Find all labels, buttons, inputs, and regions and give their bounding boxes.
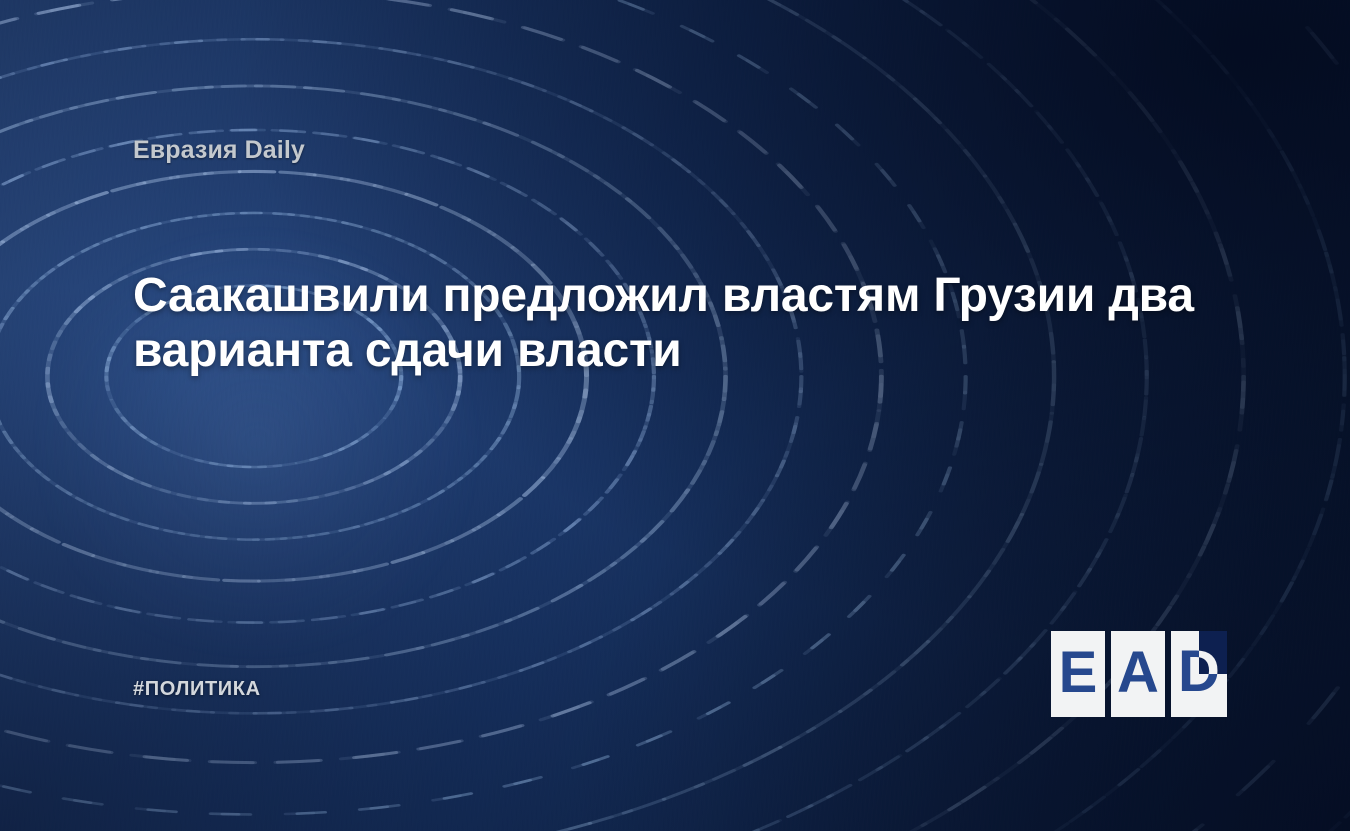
ead-logo-letter-d-tr: D (1199, 643, 1220, 674)
headline: Саакашвили предложил властям Грузии два … (133, 268, 1253, 378)
ead-logo: E A D D D D (1051, 631, 1229, 717)
ead-logo-tile-e: E (1051, 631, 1105, 717)
ead-logo-letter-d-bl: D (1178, 674, 1199, 701)
ead-logo-d-quadrant-bottom-right: D (1199, 674, 1227, 717)
ead-logo-d-quadrant-top-left: D (1171, 631, 1199, 674)
ead-logo-letter-a: A (1111, 631, 1165, 717)
ead-logo-letter-d-tl: D (1178, 643, 1199, 674)
ead-logo-tile-d: D D D D (1171, 631, 1227, 717)
ead-logo-letter-e: E (1051, 631, 1105, 717)
ead-logo-d-quadrant-top-right: D (1199, 631, 1227, 674)
category-tag: #ПОЛИТИКА (133, 678, 261, 701)
brand-name: Евразия Daily (133, 136, 305, 165)
ead-logo-tile-a: A (1111, 631, 1165, 717)
ead-logo-d-quadrants: D D D D (1171, 631, 1227, 717)
news-card: Евразия Daily Саакашвили предложил власт… (0, 0, 1350, 831)
ead-logo-d-quadrant-bottom-left: D (1171, 674, 1199, 717)
ead-logo-letter-d-br: D (1199, 674, 1220, 701)
